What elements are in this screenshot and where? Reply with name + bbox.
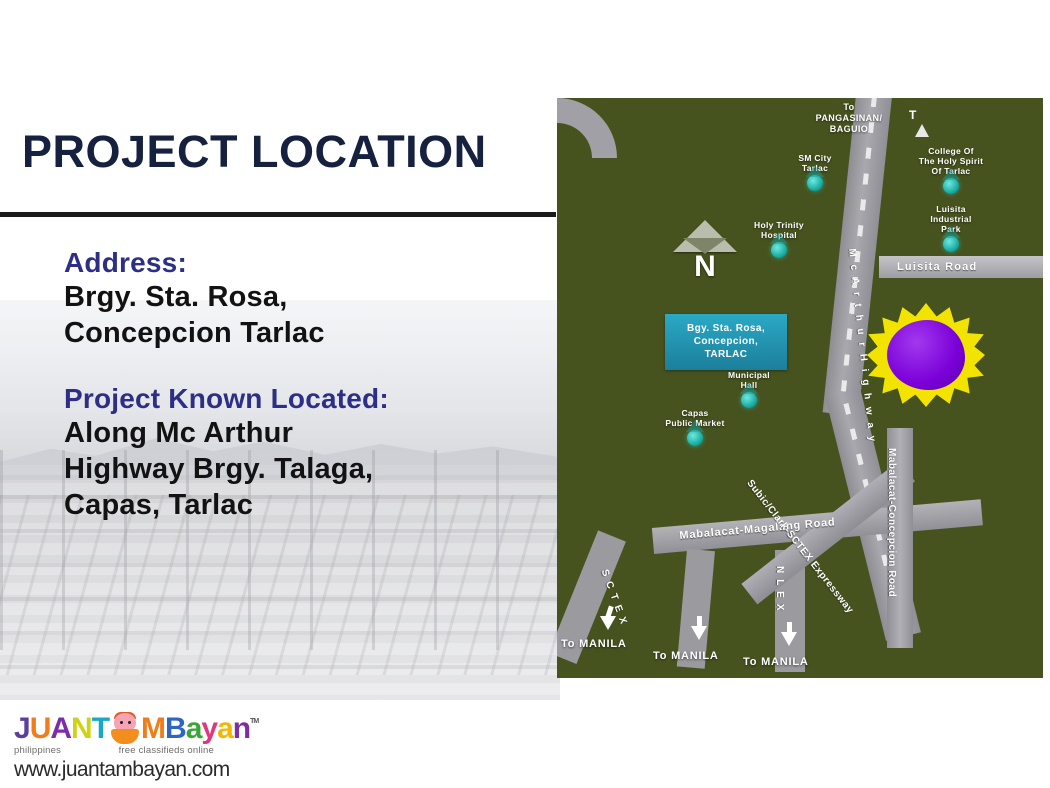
poi-label-line-1: College Of	[905, 146, 997, 156]
project-known-located-label: Project Known Located:	[64, 382, 554, 416]
poi-holy-trinity-hospital: Holy Trinity Hospital	[733, 220, 825, 258]
map-pin-icon	[807, 175, 823, 191]
logo-letter-u: U	[30, 714, 51, 744]
text-spacer	[64, 352, 554, 382]
exit-arrow-sctex-icon	[600, 616, 616, 630]
location-map: M c A r t h u r H i g h w a y Luisita Ro…	[557, 98, 1043, 678]
north-direction-arrow-icon	[915, 124, 929, 137]
address-line-1: Brgy. Sta. Rosa,	[64, 280, 554, 316]
logo-letter-n: N	[71, 714, 92, 744]
callout-line-3: TARLAC	[669, 348, 783, 361]
poi-label-line-2: Municipal	[703, 370, 795, 380]
poi-label-line-1: Holy Trinity	[733, 220, 825, 230]
poi-label-line-2: The Holy Spirit	[905, 156, 997, 166]
compass-rose: N	[669, 220, 741, 298]
logo-tagline: philippines free classifieds online	[14, 745, 214, 756]
logo-face-icon	[110, 714, 140, 744]
project-callout-box: Bgy. Sta. Rosa, Concepcion, TARLAC	[665, 314, 787, 370]
poi-label-line-1: Luisita	[905, 204, 997, 214]
logo-letter-m: M	[141, 714, 165, 744]
direction-line-3: BAGUIO	[789, 124, 909, 135]
project-site-marker	[867, 303, 985, 407]
page-title: PROJECT LOCATION	[0, 128, 556, 175]
direction-to-pangasinan-baguio: To PANGASINAN/ BAGUIO	[789, 102, 909, 134]
logo-letter-a3: a	[217, 714, 233, 744]
direction-line-1: To	[789, 102, 909, 113]
poi-capas-public-market: Capas Public Market	[649, 408, 741, 446]
logo-website-url[interactable]: www.juantambayan.com	[14, 758, 258, 782]
title-block: PROJECT LOCATION	[0, 128, 556, 175]
map-pin-icon	[687, 430, 703, 446]
exit-label-to-manila-middle: To MANILA	[653, 650, 719, 662]
project-location-slide: PROJECT LOCATION Address: Brgy. Sta. Ros…	[0, 0, 1050, 700]
callout-line-2: Concepcion,	[669, 335, 783, 348]
exit-label-to-manila-sctex: To MANILA	[561, 638, 627, 650]
road-label-luisita: Luisita Road	[897, 261, 977, 273]
callout-line-1: Bgy. Sta. Rosa,	[669, 322, 783, 335]
address-text-block: Address: Brgy. Sta. Rosa, Concepcion Tar…	[64, 246, 554, 524]
logo-letter-a: A	[50, 714, 71, 744]
logo-letter-j: J	[14, 714, 30, 744]
logo-face-body	[111, 729, 139, 744]
title-divider	[0, 212, 556, 217]
map-pin-icon	[943, 236, 959, 252]
poi-label-line-2: Industrial	[905, 214, 997, 224]
logo-tagline-left: philippines	[14, 745, 61, 756]
logo-wordmark: J U A N T M B a y a n TM	[14, 714, 258, 744]
address-label: Address:	[64, 246, 554, 280]
logo-letter-t: T	[92, 714, 109, 744]
poi-luisita-industrial-park: Luisita Industrial Park	[905, 204, 997, 252]
logo-letter-n2: n	[233, 714, 250, 744]
logo-letter-y: y	[201, 714, 217, 744]
direction-to-tarlac: T	[909, 108, 917, 122]
compass-north-letter: N	[669, 252, 741, 282]
direction-line-2: PANGASINAN/	[789, 113, 909, 124]
site-footer: J U A N T M B a y a n TM	[0, 700, 1050, 788]
poi-label-line-1: SM City	[769, 153, 861, 163]
exit-label-to-manila-nlex: To MANILA	[743, 656, 809, 668]
poi-label-line-1: Capas	[649, 408, 741, 418]
road-label-mabalacat-concepcion: Mabalacat-Concepcion Road	[886, 448, 897, 597]
map-pin-icon	[943, 178, 959, 194]
map-canvas: M c A r t h u r H i g h w a y Luisita Ro…	[557, 98, 1043, 678]
poi-sm-city-tarlac: SM City Tarlac	[769, 153, 861, 191]
road-concepcion-curve	[557, 98, 617, 158]
address-line-2: Concepcion Tarlac	[64, 316, 554, 352]
logo-letter-b: B	[165, 714, 186, 744]
project-location-line-2: Highway Brgy. Talaga,	[64, 452, 554, 488]
project-location-line-1: Along Mc Arthur	[64, 416, 554, 452]
project-area-blob	[887, 320, 965, 390]
map-pin-icon	[741, 392, 757, 408]
slide-page: PROJECT LOCATION Address: Brgy. Sta. Ros…	[0, 0, 1050, 788]
map-pin-icon	[771, 242, 787, 258]
exit-arrow-middle-icon	[691, 626, 707, 640]
poi-college-of-the-holy-spirit: College Of The Holy Spirit Of Tarlac	[905, 146, 997, 194]
exit-arrow-nlex-icon	[781, 632, 797, 646]
logo-letter-a2: a	[186, 714, 202, 744]
juantambayan-logo[interactable]: J U A N T M B a y a n TM	[14, 714, 258, 782]
logo-tagline-right: free classifieds online	[119, 745, 214, 756]
project-location-line-3: Capas, Tarlac	[64, 488, 554, 524]
logo-trademark: TM	[250, 718, 258, 725]
road-label-nlex: N L E X	[774, 566, 785, 612]
